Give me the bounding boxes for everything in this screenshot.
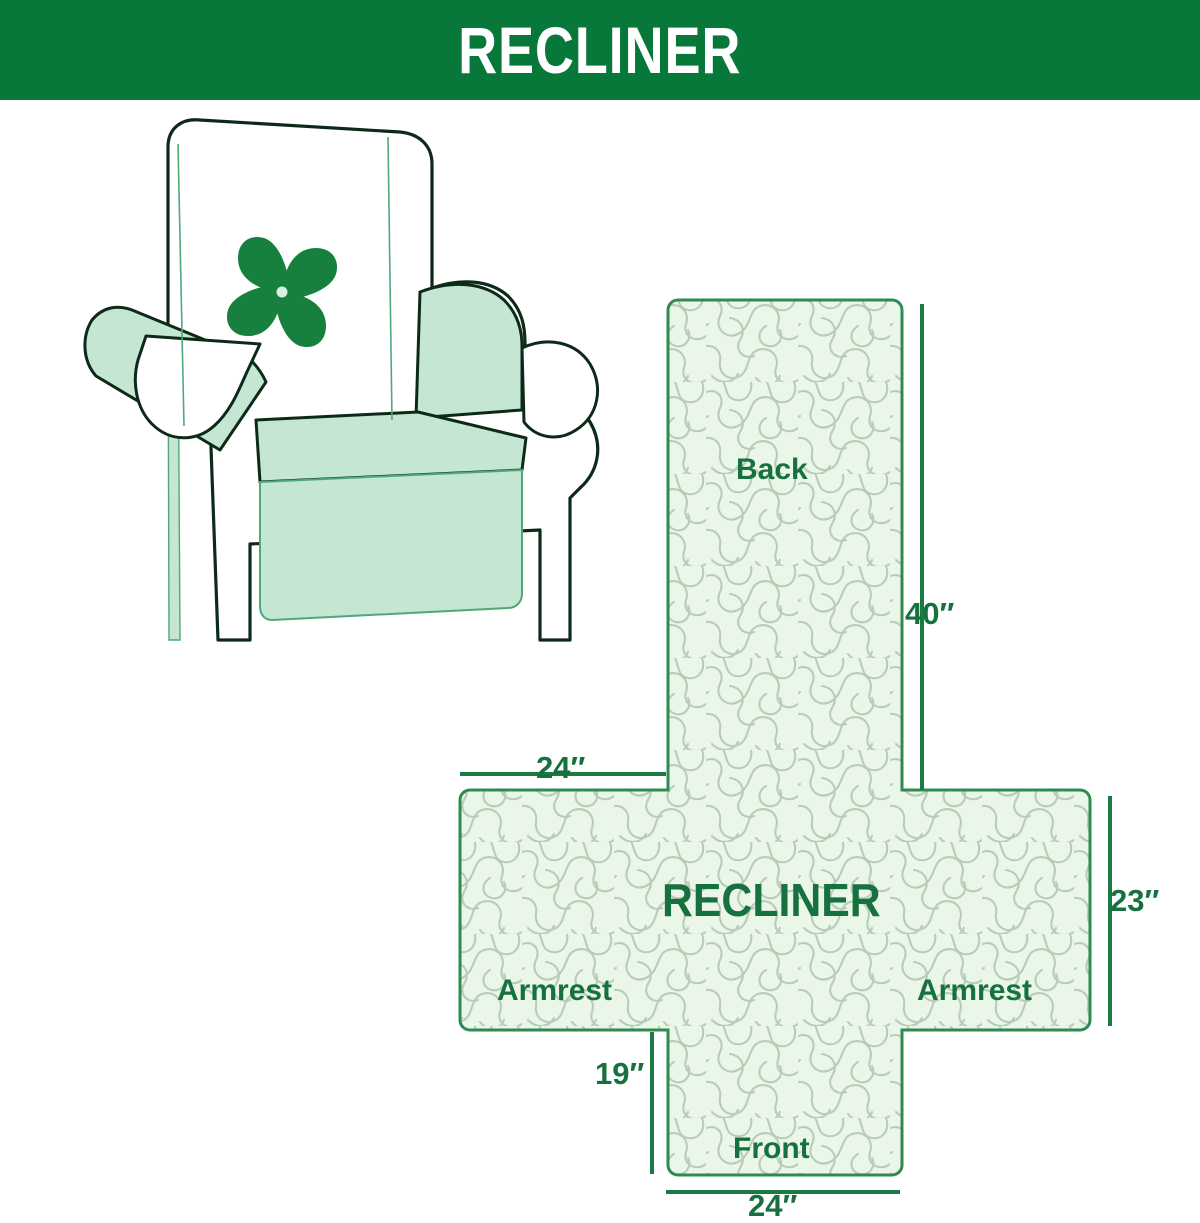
pattern-label-recliner: RECLINER [662,877,881,923]
pattern-label-armrest-left: Armrest [497,976,612,1006]
pattern-cross-shape [460,300,1090,1175]
pattern-label-back: Back [736,455,808,485]
dimension-label-back-width: 24″ [536,752,585,783]
pattern-label-front: Front [733,1134,810,1164]
figure-area: Back RECLINER Armrest Armrest Front 40″ … [0,100,1200,1200]
dimension-label-front-drop: 19″ [595,1058,644,1089]
slipcover-pattern-diagram [430,290,1200,1200]
header-banner: RECLINER [0,0,1200,100]
page-title: RECLINER [458,17,741,83]
pattern-label-armrest-right: Armrest [917,976,1032,1006]
dimension-label-front-width: 24″ [748,1190,797,1221]
dimension-label-back-height: 40″ [905,598,954,629]
dimension-label-seat-depth: 23″ [1110,885,1159,916]
